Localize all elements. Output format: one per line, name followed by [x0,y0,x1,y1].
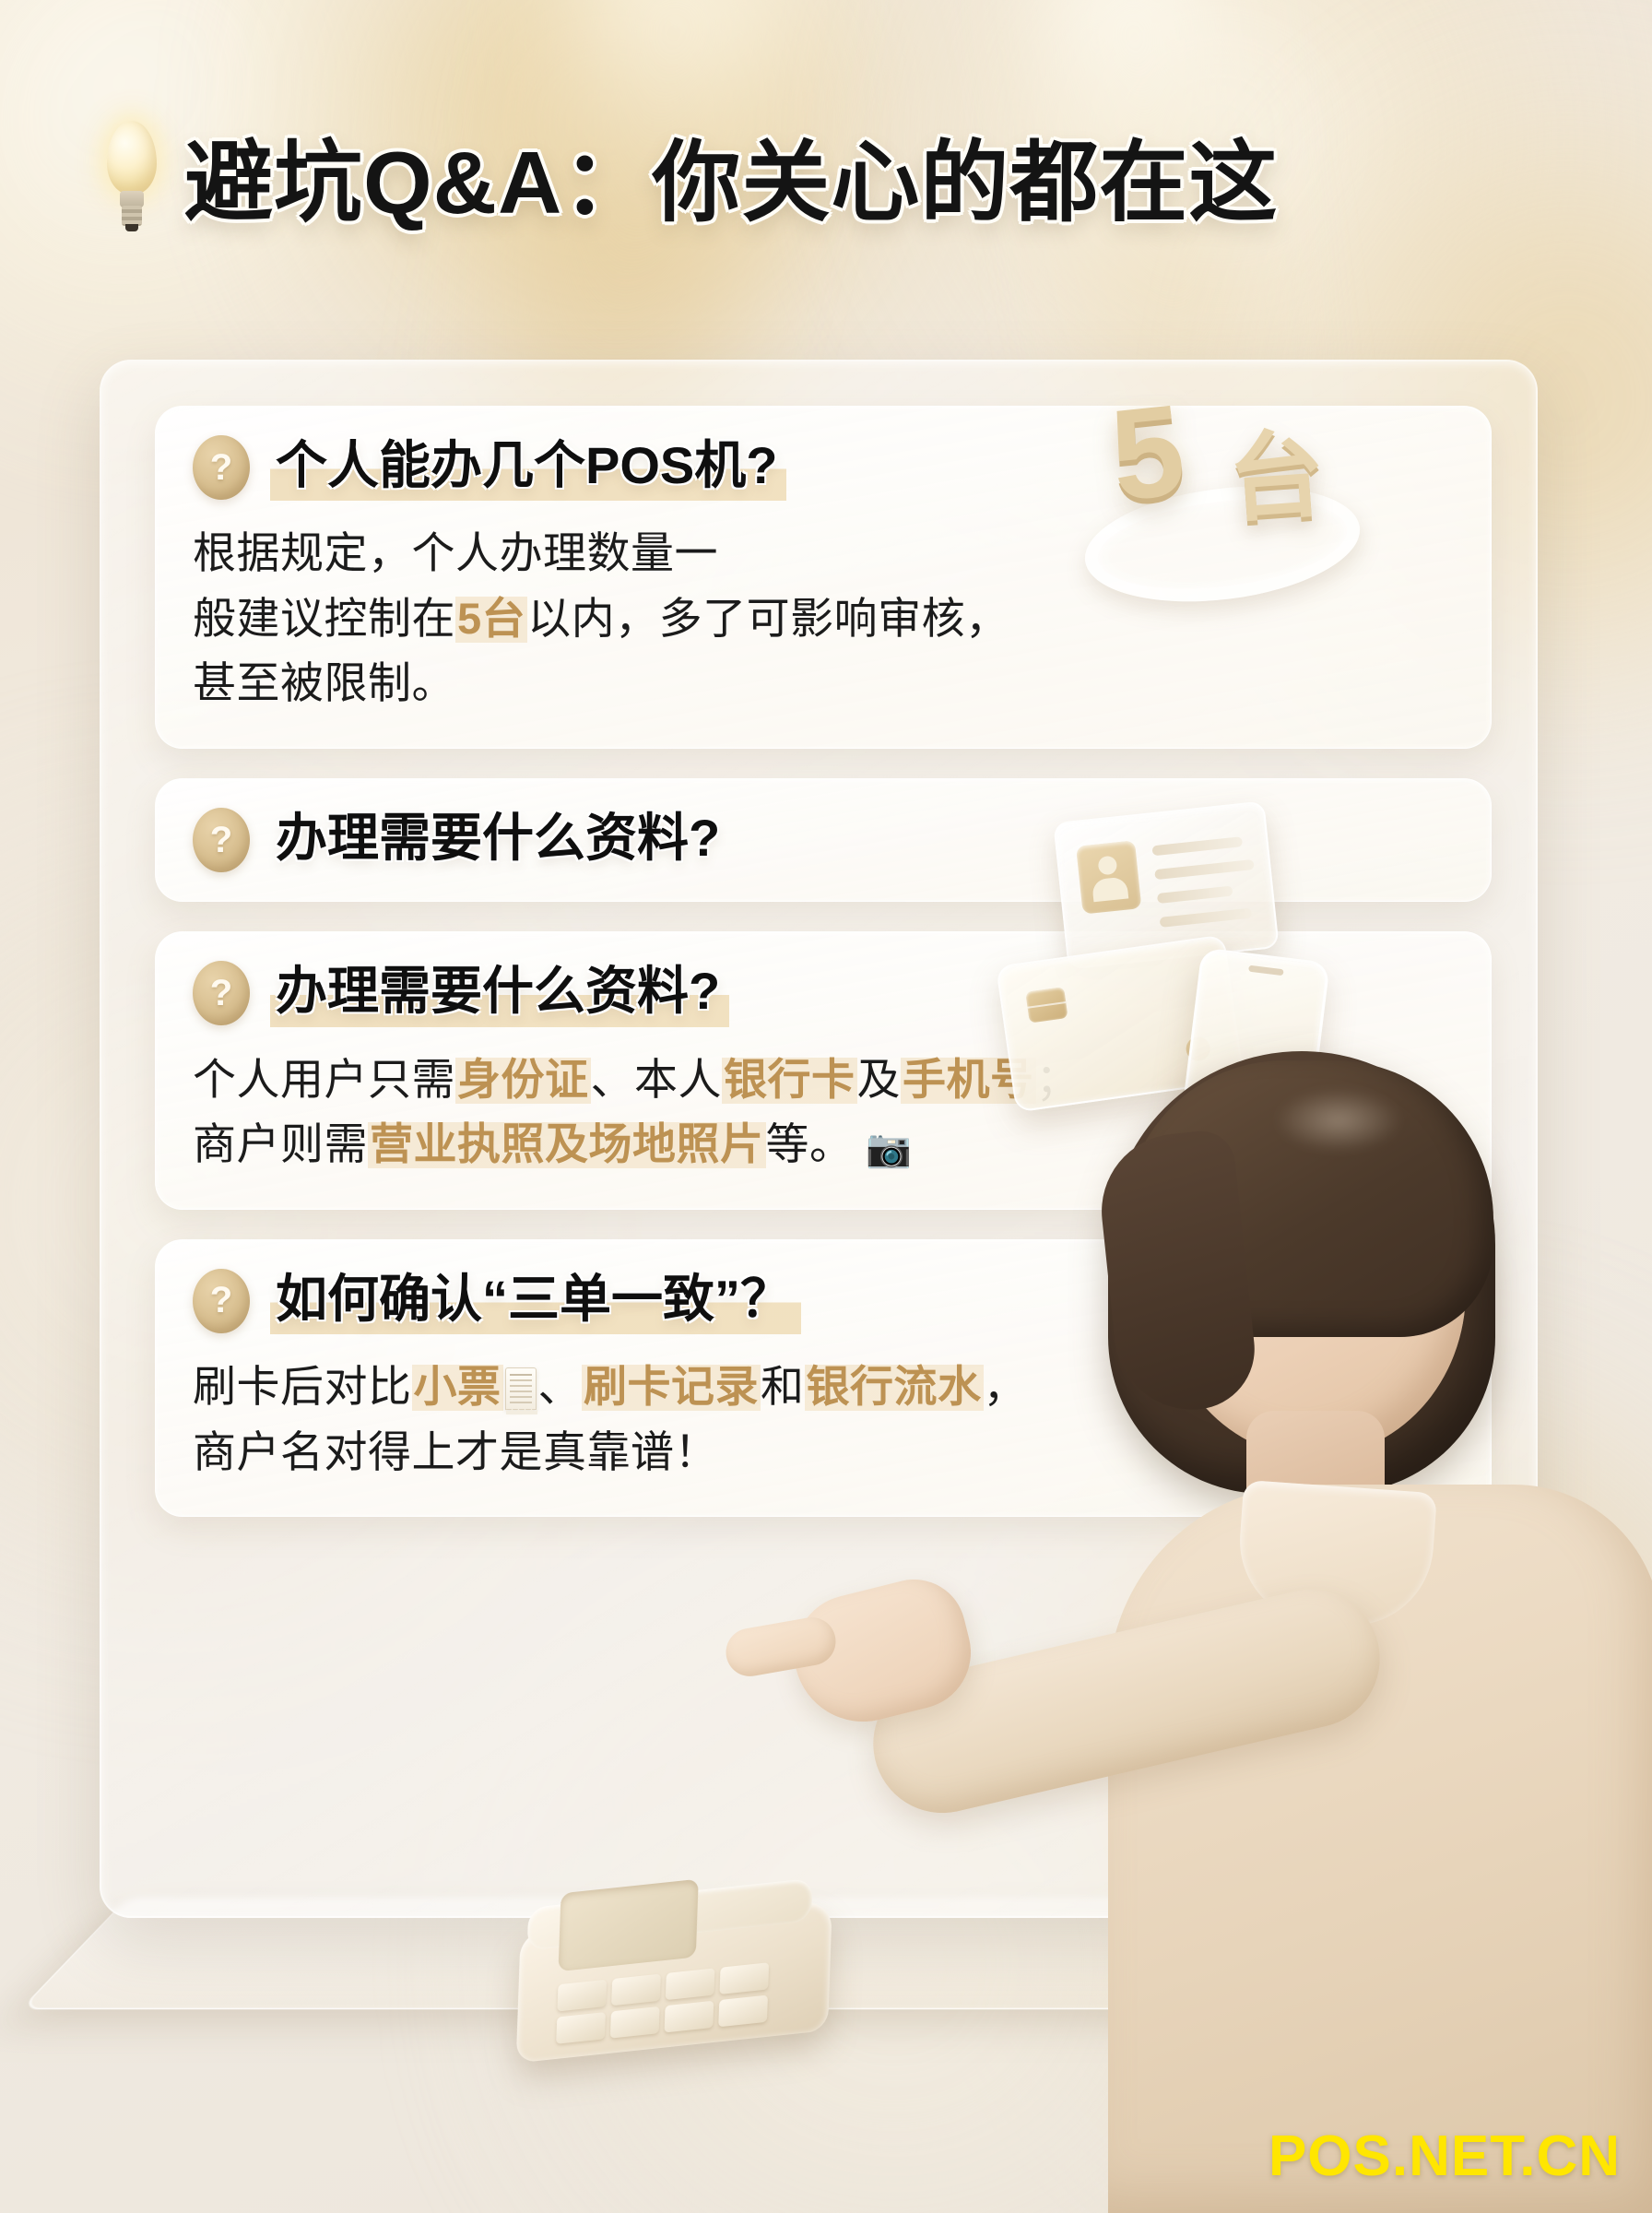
highlight-term: 刷卡记录 [582,1362,761,1411]
camera-icon: 📷 [866,1129,912,1169]
question-row: ? 个人能办几个POS机? [193,434,1454,501]
question-text: 个人能办几个POS机? [270,434,786,501]
answer-line: 般建议控制在5台以内，多了可影响审核， [193,586,1454,652]
page-header: 避坑Q&A：你关心的都在这 [100,111,1278,239]
question-text: 办理需要什么资料? [270,960,729,1026]
question-row: ? 办理需要什么资料? [193,960,1454,1026]
answer-line: 根据规定，个人办理数量一 [193,521,1454,586]
lightbulb-icon [100,121,164,230]
question-row: ? 办理需要什么资料? [193,807,1454,873]
question-text: 办理需要什么资料? [270,807,729,873]
answer-line: 甚至被限制。 [193,651,1454,716]
question-mark-icon: ? [193,435,250,500]
question-text: 如何确认“三单一致”？ [270,1268,801,1334]
question-mark-icon: ? [193,1269,250,1333]
page-title: 避坑Q&A：你关心的都在这 [184,111,1278,239]
question-mark-icon: ? [193,808,250,872]
highlight-term: 银行流水 [805,1362,984,1411]
answer-text: 根据规定，个人办理数量一 般建议控制在5台以内，多了可影响审核， 甚至被限制。 [193,521,1454,716]
highlight-term: 小票 [412,1362,503,1411]
hair-shine [1274,1088,1403,1153]
pos-terminal-icon [506,1844,895,2094]
poster-canvas: 避坑Q&A：你关心的都在这 5 台 ? 个人能办几个PO [0,0,1652,2213]
highlight-term: 5台 [455,594,527,643]
receipt-icon [505,1367,537,1410]
watermark: POS.NET.CN [1268,2124,1621,2189]
highlight-term: 身份证 [455,1055,591,1104]
highlight-term: 银行卡 [722,1055,857,1104]
question-mark-icon: ? [193,961,250,1025]
character-illustration [970,1024,1652,2213]
qa-card[interactable]: ? 办理需要什么资料? [155,778,1492,902]
highlight-term: 营业执照及场地照片 [368,1119,766,1168]
qa-card[interactable]: ? 个人能办几个POS机? 根据规定，个人办理数量一 般建议控制在5台以内，多了… [155,406,1492,749]
